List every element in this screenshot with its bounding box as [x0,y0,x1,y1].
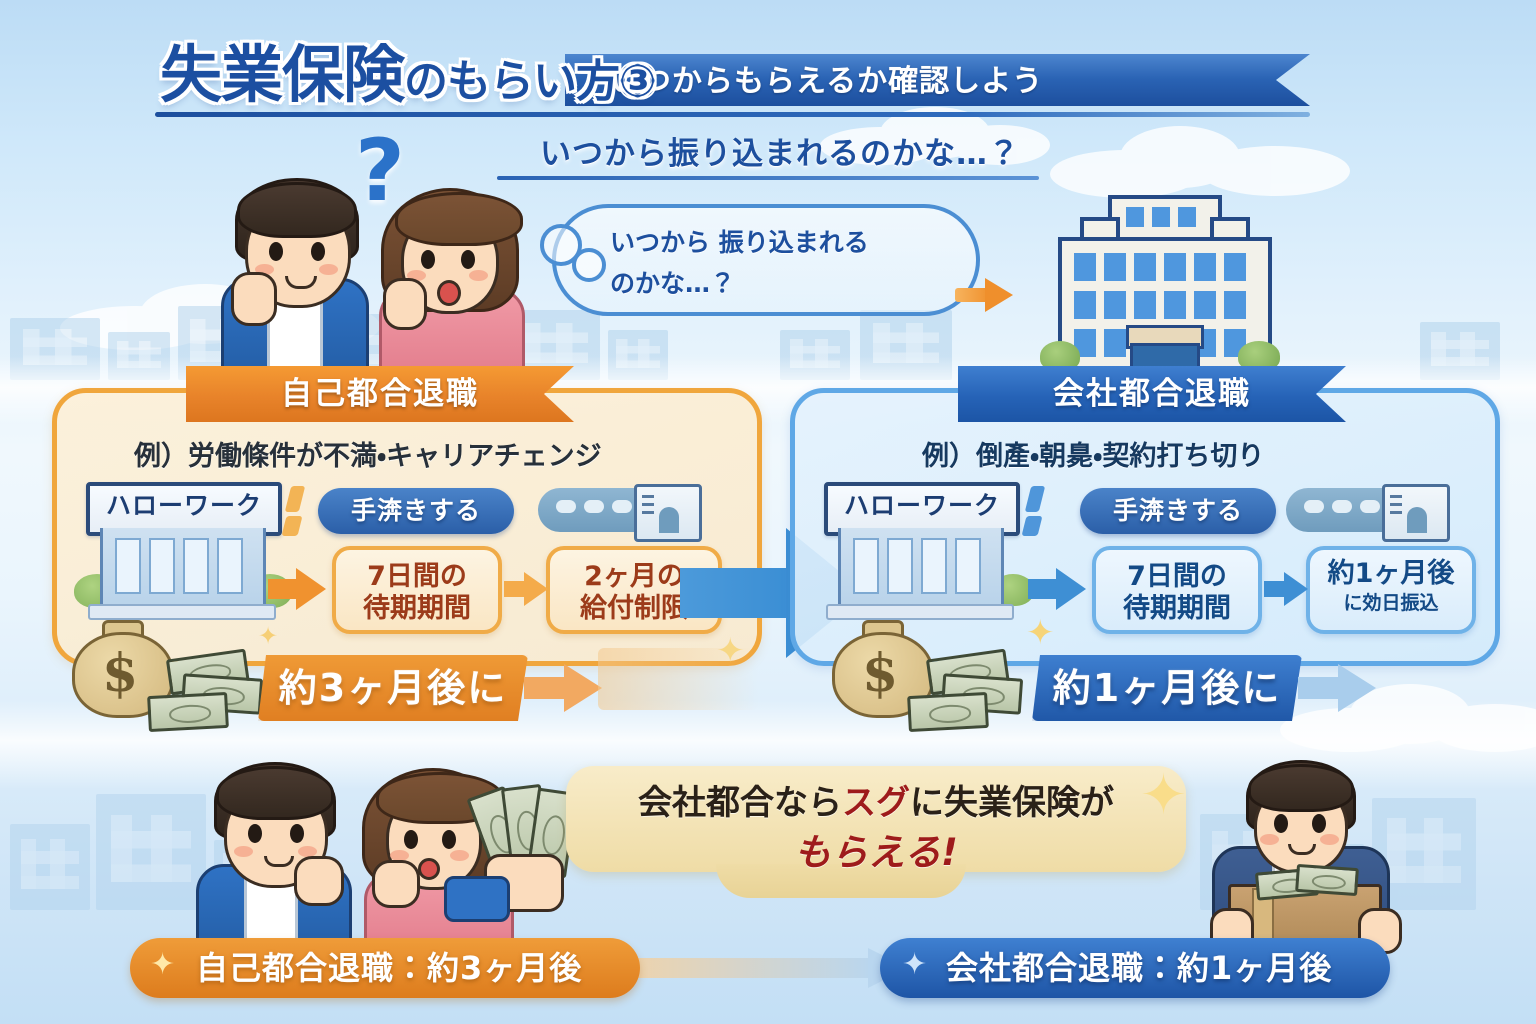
hellowork-base-right [826,604,1014,620]
result-arrow-left-icon [524,664,602,712]
hand-sleeve [444,876,510,922]
page-title-main: 失業保険 [160,38,404,111]
money-bag-right: $ [832,632,1042,732]
step-right-1: 7日間の 待期期間 [1092,546,1262,634]
man2-eye-left [248,824,262,843]
businessman-cheek-left [1260,834,1279,845]
result-arrow-right-icon [1298,664,1378,712]
step-right-2-line1: 約1ヶ月後 [1310,558,1472,590]
step-left-1-line1: 7日間の [336,561,498,593]
man-eye-left [269,242,283,261]
man-cheek-right [319,264,338,275]
speech-bubble-dot-small [572,248,606,282]
intro-question-underline [497,176,1039,180]
title-divider [155,112,1310,117]
hellowork-building-right: ハローワーク [820,482,1016,622]
train-document-icon-right [1286,482,1446,538]
hand-with-cash [450,790,580,920]
station-document-right [1382,484,1450,542]
businessman-eye-left [1274,814,1288,833]
panel-right-ribbon: 会社都合退職 [958,366,1346,422]
callout-line2: もらえる! [578,828,1174,878]
man-eye-right [311,242,325,261]
header: いつからもらえるか確認しよう 失業保険のもらい方③ [0,16,1536,120]
panel-left-example: 例）労働條件が不満・キャリアチェンジ [134,434,602,473]
result-banner-left: 約3ヶ月後に [258,655,528,721]
speech-bubble-line1: いつから 振り込まれる [610,222,970,263]
office-building-illustration [1030,195,1290,380]
woman-fringe [395,192,523,246]
panel-left-ribbon: 自己都合退職 [186,366,574,422]
money-bag-left: $ [72,632,282,732]
dollar-sign-icon: $ [102,648,138,700]
flash-mark-right-icon [1028,486,1036,538]
callout-part1: 会社都合なら [638,783,842,823]
hellowork-facade-right [838,528,1004,609]
title-subtitle: いつからもらえるか確認しよう [610,60,1310,104]
woman2-eye-left [404,830,418,849]
callout-highlight: スグ [842,783,910,823]
callout-line1: 会社都合ならスグに失業保険が [578,778,1174,828]
character-businessman [1190,760,1420,940]
woman2-mouth [418,858,440,880]
flash-mark-left-icon [288,486,296,538]
man2-hand [294,856,344,906]
businessman-cheek-right [1320,834,1339,845]
infographic-canvas: いつからもらえるか確認しよう 失業保険のもらい方③ いつから振り込まれるのかな…… [0,0,1536,1024]
woman-hand [383,278,427,330]
arrow-right-1-icon [1028,568,1086,610]
step-left-1: 7日間の 待期期間 [332,546,502,634]
cash-stack-right [907,692,989,732]
train-document-icon-left [538,482,698,538]
dollar-sign-icon: $ [862,648,898,700]
step-right-1-line1: 7日間の [1096,561,1258,593]
hellowork-building-left: ハローワーク [82,482,278,622]
step-right-2: 約1ヶ月後 に効日振込 [1306,546,1476,634]
callout-part2: に失業保険が [910,783,1114,823]
hellowork-base-left [88,604,276,620]
woman-cheek-right [469,270,488,281]
result-banner-right: 約1ヶ月後に [1032,655,1302,721]
man2-fringe [216,766,334,820]
man2-eye-right [290,824,304,843]
page-title: 失業保険のもらい方③ [160,36,655,121]
question-mark-icon: ? [355,128,405,214]
woman-eye-left [421,250,435,269]
woman-eye-right [461,250,475,269]
woman2-hand [372,860,420,908]
page-title-sub: のもらい方③ [404,56,655,107]
panel-right-example: 例）倒產・朝臰・契約打ち切り [922,434,1264,473]
summary-right: 会社都合退職：約1ヶ月後 [880,938,1390,998]
woman-mouth [437,280,461,306]
intro-question: いつから振り込まれるのかな…？ [470,128,1090,173]
man2-cheek-left [234,846,253,857]
arrow-right-2-icon [1264,572,1308,606]
speech-bubble-text: いつから 振り込まれる のかな…？ [610,222,970,304]
businessman-eye-right [1312,814,1326,833]
step-left-1-line2: 待期期間 [336,593,498,625]
step-right-2-line2: に効日振込 [1310,592,1472,614]
office-window [1224,253,1246,281]
arrow-to-office-icon [955,278,1015,312]
arrow-left-1-icon [268,568,326,610]
summary-left: 自己都合退職：約3ヶ月後 [130,938,640,998]
cloud-decoration [1050,120,1350,200]
action-pill-right[interactable]: 手渀きする [1080,488,1276,534]
man-fringe [237,182,357,238]
arrow-left-2-icon [504,572,548,606]
hellowork-facade-left [100,528,266,609]
box-cash [1295,864,1359,896]
man-hand [231,272,277,326]
office-window [1224,291,1246,319]
callout-text: 会社都合ならスグに失業保険が もらえる! [578,778,1174,878]
businessman-fringe [1248,764,1354,812]
step-right-1-line2: 待期期間 [1096,593,1258,625]
speech-bubble-line2: のかな…？ [610,263,970,304]
action-pill-left[interactable]: 手渀きする [318,488,514,534]
cash-stack-left [147,692,229,732]
summary-connector-arrow [624,948,924,988]
